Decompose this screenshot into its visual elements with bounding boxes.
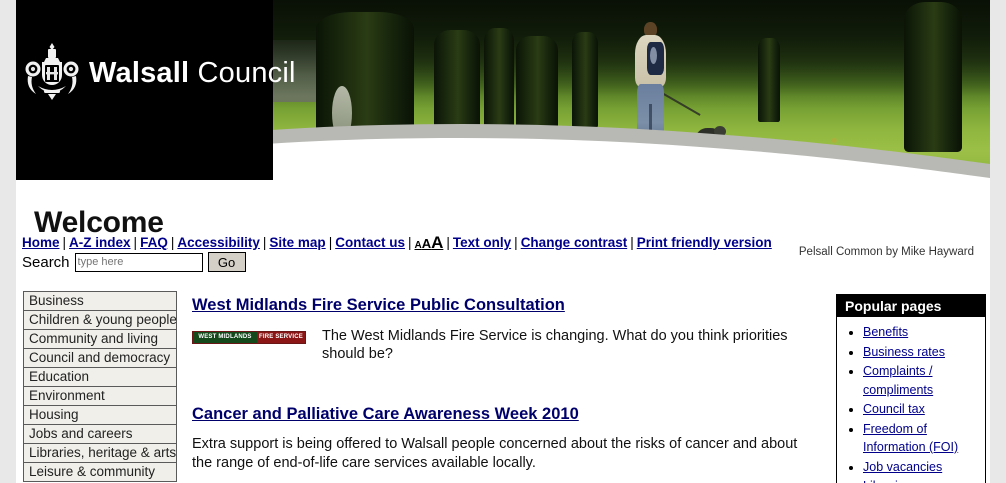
nav-separator: | bbox=[627, 235, 637, 250]
browser-viewport: Walsall Council Welcome Home|A-Z index|F… bbox=[0, 0, 1006, 483]
nav-link-site-map[interactable]: Site map bbox=[269, 235, 325, 250]
logo-word-council: Council bbox=[189, 57, 295, 89]
nav-link-print-friendly-version[interactable]: Print friendly version bbox=[637, 235, 772, 250]
nav-separator: | bbox=[443, 235, 453, 250]
utility-navigation: Home|A-Z index|FAQ|Accessibility|Site ma… bbox=[22, 233, 772, 253]
page-content-column: Walsall Council Welcome Home|A-Z index|F… bbox=[16, 0, 990, 483]
photo-credit: Pelsall Common by Mike Hayward bbox=[799, 246, 974, 258]
article-title-cancer-care[interactable]: Cancer and Palliative Care Awareness Wee… bbox=[192, 405, 579, 424]
popular-link-complaints-compliments[interactable]: Complaints / compliments bbox=[863, 364, 933, 397]
text-size-small-icon[interactable]: A bbox=[414, 240, 421, 251]
main-content: West Midlands Fire Service Public Consul… bbox=[192, 296, 832, 474]
nav-separator: | bbox=[260, 235, 270, 250]
nav-link-accessibility[interactable]: Accessibility bbox=[177, 235, 260, 250]
sidebar-item-council-and-democracy[interactable]: Council and democracy bbox=[23, 348, 177, 367]
list-item: Libraries bbox=[863, 477, 985, 483]
article-text-cancer-care: Extra support is being offered to Walsal… bbox=[192, 435, 812, 473]
search-label: Search bbox=[22, 254, 70, 271]
category-sidebar: Business Children & young people Communi… bbox=[23, 291, 177, 482]
sidebar-item-jobs-and-careers[interactable]: Jobs and careers bbox=[23, 424, 177, 443]
nav-separator: | bbox=[60, 235, 70, 250]
sidebar-item-housing[interactable]: Housing bbox=[23, 405, 177, 424]
west-midlands-fire-service-logo: WEST MIDLANDS FIRE SERVICE bbox=[192, 331, 306, 344]
search-form: Search Go bbox=[22, 252, 246, 272]
nav-link-faq[interactable]: FAQ bbox=[140, 235, 168, 250]
popular-pages-list: Benefits Business rates Complaints / com… bbox=[837, 317, 985, 483]
banner-tree bbox=[758, 38, 780, 122]
popular-link-council-tax[interactable]: Council tax bbox=[863, 402, 925, 416]
sidebar-item-libraries-heritage-arts[interactable]: Libraries, heritage & arts bbox=[23, 443, 177, 462]
text-size-controls: AAA bbox=[414, 233, 443, 253]
article-cancer-care: Cancer and Palliative Care Awareness Wee… bbox=[192, 405, 832, 473]
article-text-fire-service: The West Midlands Fire Service is changi… bbox=[322, 327, 832, 363]
popular-link-benefits[interactable]: Benefits bbox=[863, 325, 908, 339]
sidebar-item-business[interactable]: Business bbox=[23, 291, 177, 310]
site-logo-panel[interactable]: Walsall Council bbox=[16, 0, 273, 180]
search-go-button[interactable]: Go bbox=[208, 252, 246, 272]
search-input[interactable] bbox=[75, 253, 203, 272]
nav-link-a-z-index[interactable]: A-Z index bbox=[69, 235, 131, 250]
popular-link-business-rates[interactable]: Business rates bbox=[863, 345, 945, 359]
nav-separator: | bbox=[168, 235, 178, 250]
nav-link-home[interactable]: Home bbox=[22, 235, 60, 250]
article-title-fire-service[interactable]: West Midlands Fire Service Public Consul… bbox=[192, 296, 565, 315]
sidebar-item-community-and-living[interactable]: Community and living bbox=[23, 329, 177, 348]
banner-tree bbox=[572, 32, 598, 128]
list-item: Benefits bbox=[863, 323, 985, 342]
nav-separator: | bbox=[405, 235, 415, 250]
sidebar-item-environment[interactable]: Environment bbox=[23, 386, 177, 405]
sidebar-item-education[interactable]: Education bbox=[23, 367, 177, 386]
popular-pages-panel: Popular pages Benefits Business rates Co… bbox=[836, 294, 986, 483]
popular-link-job-vacancies[interactable]: Job vacancies bbox=[863, 460, 942, 474]
list-item: Business rates bbox=[863, 343, 985, 362]
list-item: Job vacancies bbox=[863, 458, 985, 477]
logo-word-walsall: Walsall bbox=[89, 57, 189, 89]
nav-link-change-contrast[interactable]: Change contrast bbox=[521, 235, 628, 250]
nav-separator: | bbox=[131, 235, 141, 250]
list-item: Council tax bbox=[863, 400, 985, 419]
list-item: Freedom of Information (FOI) bbox=[863, 420, 985, 457]
walsall-coat-of-arms-icon bbox=[24, 42, 80, 104]
nav-separator: | bbox=[326, 235, 336, 250]
sidebar-item-children-young-people[interactable]: Children & young people bbox=[23, 310, 177, 329]
text-size-medium-icon[interactable]: A bbox=[422, 236, 431, 251]
nav-separator: | bbox=[511, 235, 521, 250]
sidebar-item-leisure-community[interactable]: Leisure & community bbox=[23, 462, 177, 482]
popular-link-freedom-of-information[interactable]: Freedom of Information (FOI) bbox=[863, 422, 958, 455]
wmfs-logo-right: FIRE SERVICE bbox=[257, 332, 305, 343]
nav-link-contact-us[interactable]: Contact us bbox=[335, 235, 405, 250]
popular-pages-title: Popular pages bbox=[837, 295, 985, 317]
text-size-large-icon[interactable]: A bbox=[431, 233, 443, 252]
list-item: Complaints / compliments bbox=[863, 362, 985, 399]
wmfs-logo-left: WEST MIDLANDS bbox=[193, 332, 257, 343]
article-fire-service: West Midlands Fire Service Public Consul… bbox=[192, 296, 832, 363]
site-logo-text: Walsall Council bbox=[89, 57, 296, 90]
site-banner: Walsall Council bbox=[16, 0, 990, 180]
nav-link-text-only[interactable]: Text only bbox=[453, 235, 511, 250]
popular-link-libraries[interactable]: Libraries bbox=[863, 479, 911, 483]
